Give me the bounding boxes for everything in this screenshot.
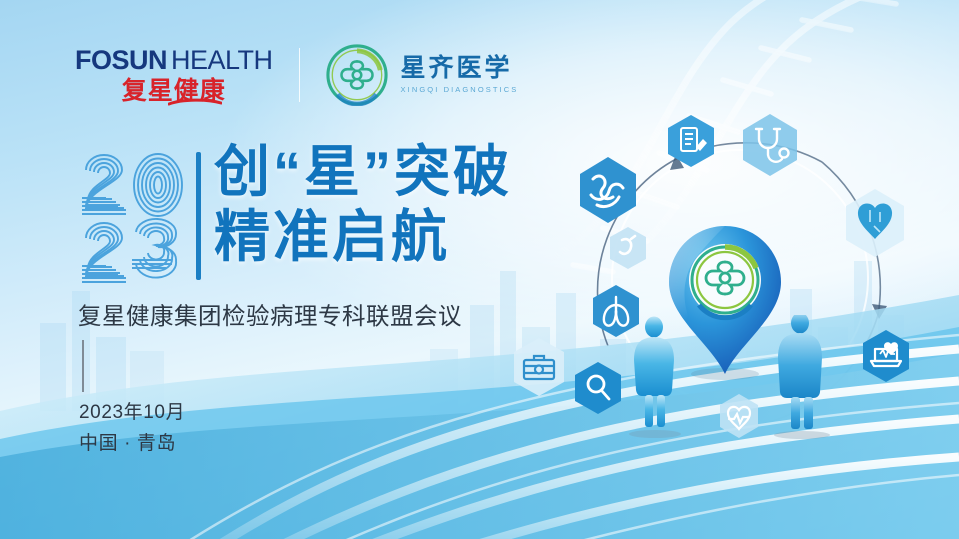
location-pin-with-xingqi-emblem [655,218,795,383]
fosun-swoosh-icon [168,98,222,106]
clipboard-pen-icon [663,113,719,169]
fosun-health-cn: 复星健康 [122,79,226,104]
headline-line-1: 创“星”突破 [214,140,512,205]
headline-block: 创“星”突破 精准启航 [214,140,512,270]
magnifier-icon [570,360,626,416]
heart-anatomy-icon [838,186,912,260]
year-2023-graphic [80,148,188,283]
fosun-word: FOSUN [75,45,167,75]
xingqi-wordmark: 星齐医学 XINGQI DIAGNOSTICS [401,56,519,94]
stomach-icon [605,225,651,271]
event-location: 中国 · 青岛 [79,429,185,460]
xingqi-logo: 星齐医学 XINGQI DIAGNOSTICS [326,44,519,106]
xingqi-en: XINGQI DIAGNOSTICS [401,86,519,94]
laptop-ecg-icon [858,328,914,384]
fosun-health-en: FOSUNHEALTH [75,47,273,74]
headline-line-2: 精准启航 [214,205,512,270]
event-date: 2023年10月 [79,398,185,429]
health-word: HEALTH [171,45,273,75]
lungs-icon [588,283,644,339]
stethoscope-icon [737,112,803,178]
intestine-icon [573,155,643,225]
heart-pulse-icon [715,392,763,440]
title-accent-bar [196,152,201,280]
xingqi-cn: 星齐医学 [401,56,519,81]
event-subtitle: 复星健康集团检验病理专科联盟会议 [78,297,462,331]
vertical-rule [82,340,84,392]
xingqi-emblem-icon [326,44,388,106]
event-meta: 2023年10月 中国 · 青岛 [79,398,185,460]
conference-poster: FOSUNHEALTH 复星健康 星齐医学 XING [0,0,959,539]
medical-case-icon [508,336,570,398]
logo-divider [299,48,300,102]
logo-bar: FOSUNHEALTH 复星健康 星齐医学 XING [75,44,518,106]
fosun-health-logo: FOSUNHEALTH 复星健康 [75,47,273,104]
